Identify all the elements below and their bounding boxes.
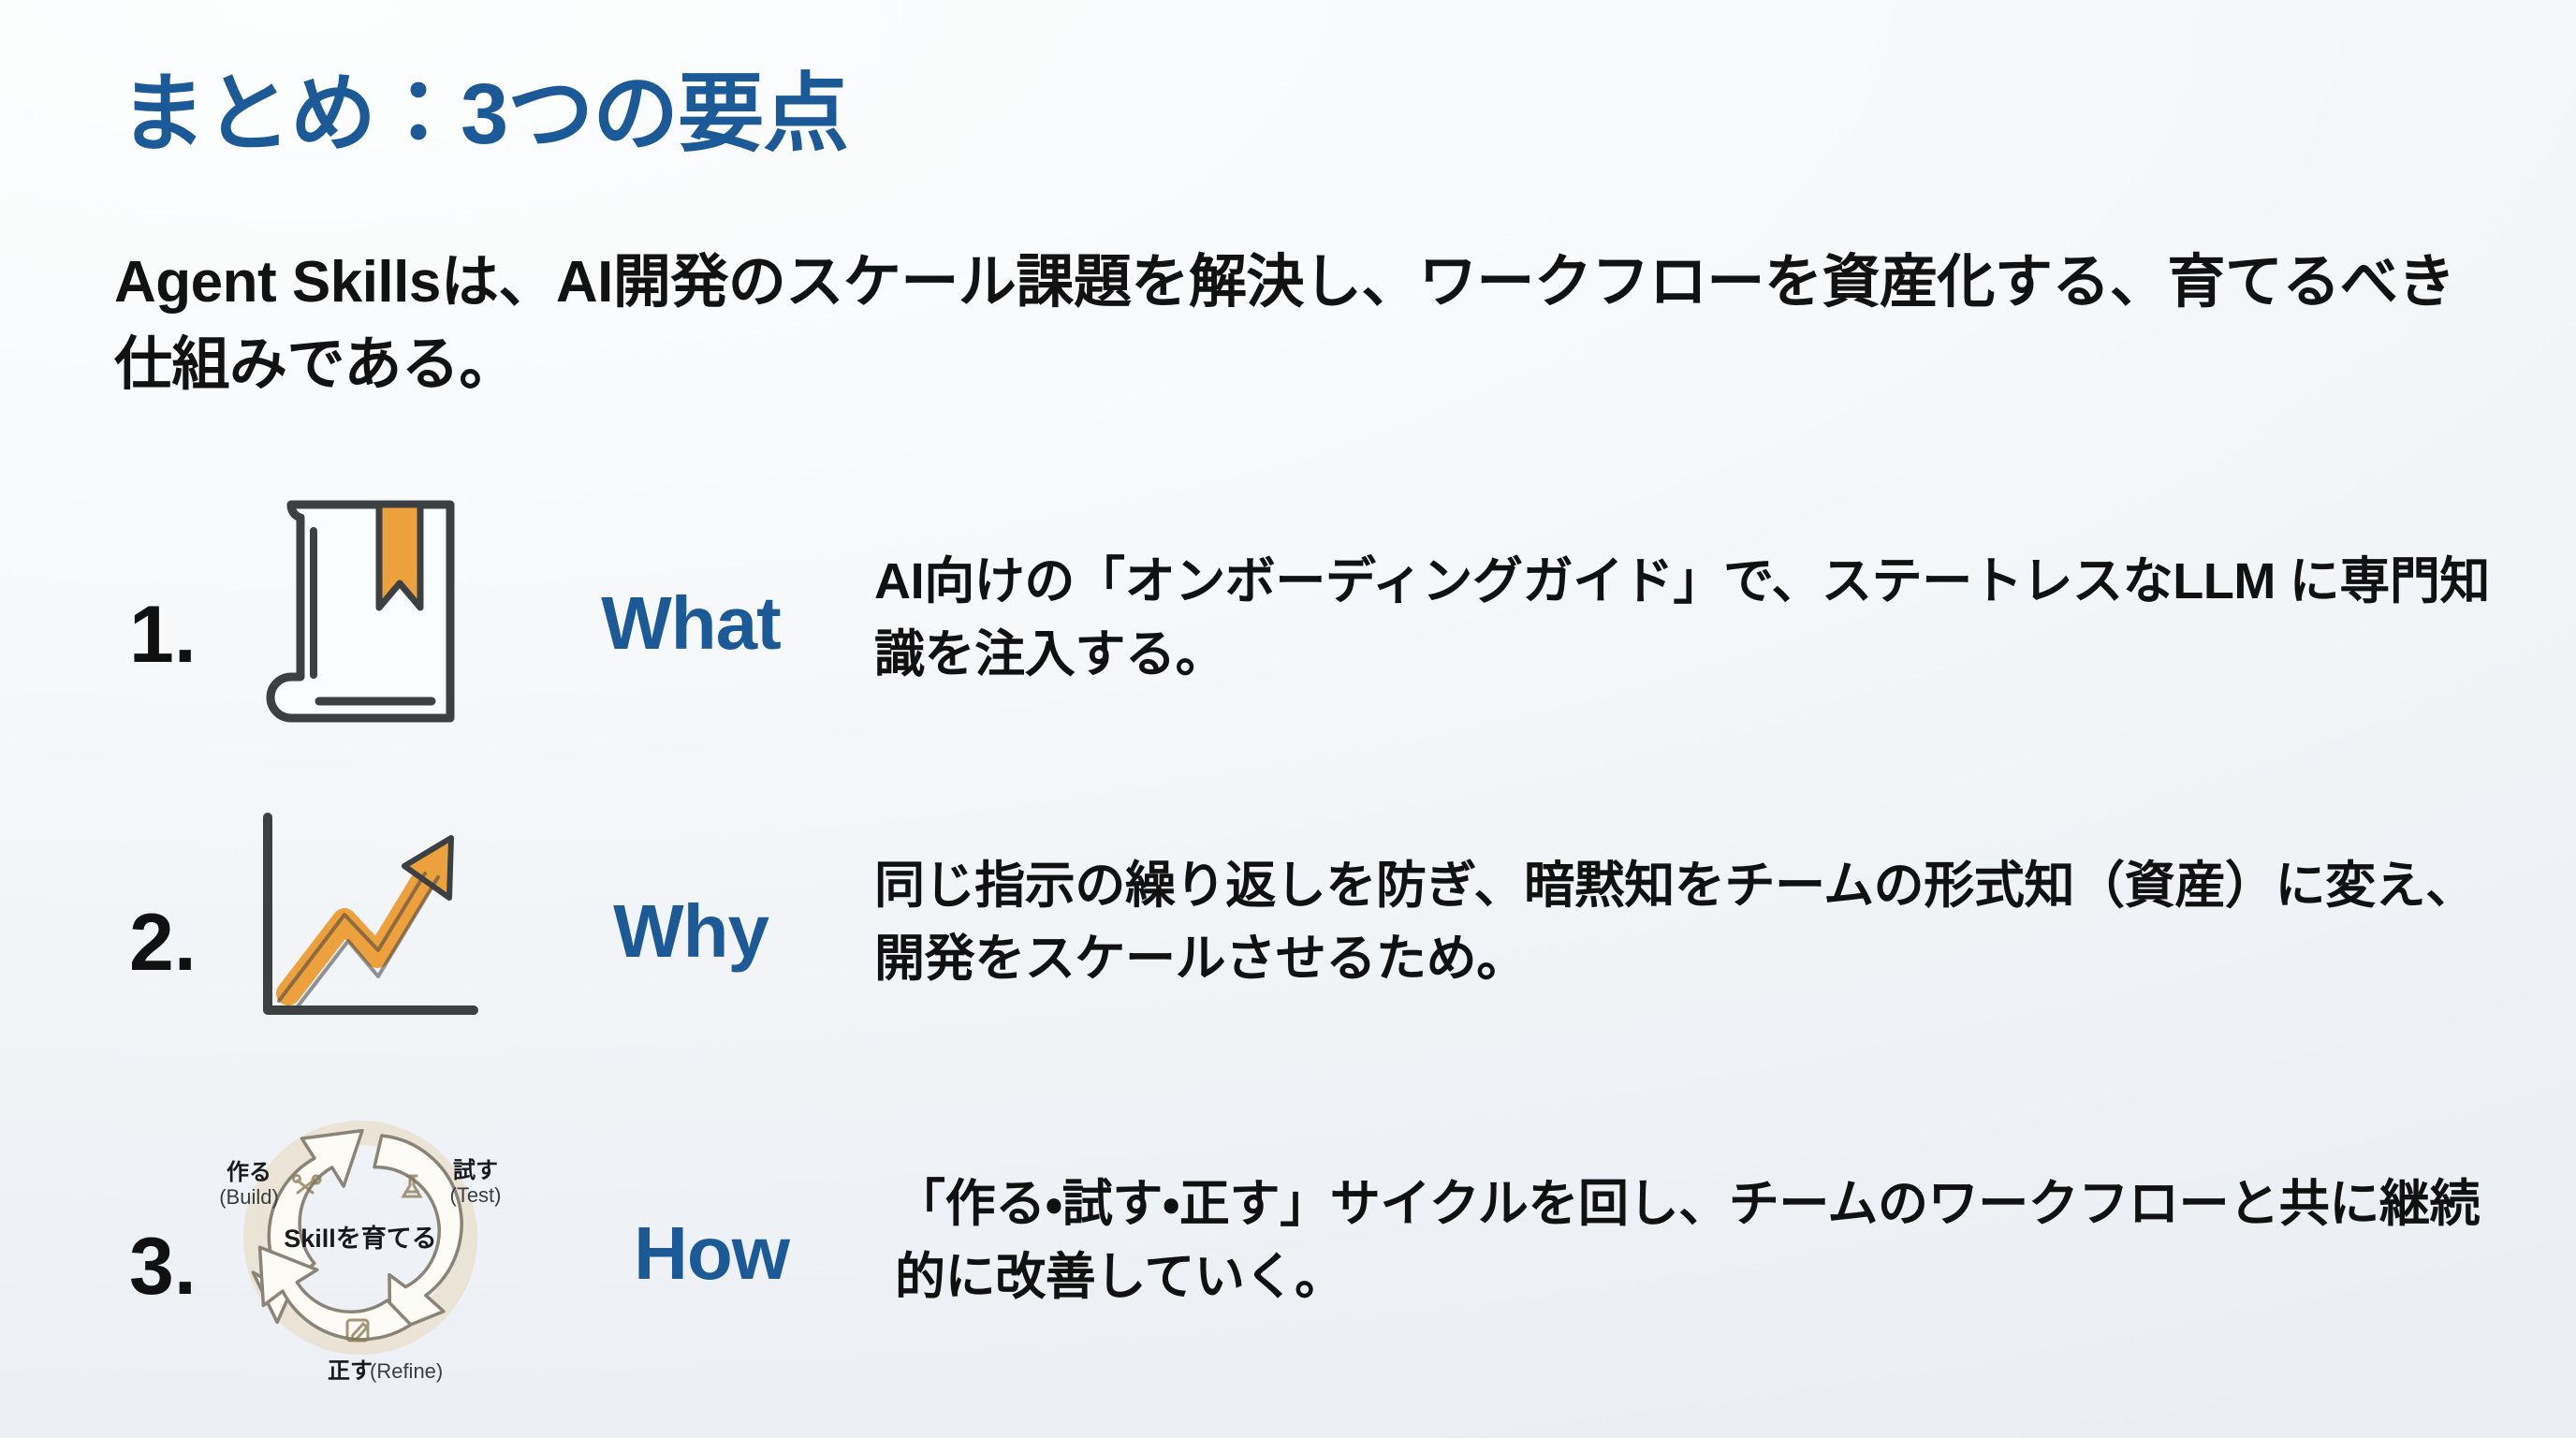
improvement-cycle-icon: Skillを育てる [178, 1086, 543, 1395]
cycle-stage-ja-refine: 正す [328, 1358, 373, 1384]
list-item: 1. What AI向けの「オンボーディングガイド」で、ステートレスなLLM に… [0, 468, 2576, 768]
cycle-stage-ja-test: 試す [453, 1157, 498, 1183]
lead-paragraph: Agent Skillsは、AI開発のスケール課題を解決し、ワークフローを資産化… [114, 242, 2473, 406]
point-number: 2. [0, 902, 129, 983]
cycle-stage-en-refine: (Refine) [370, 1359, 443, 1383]
cycle-stage-en-build: (Build) [219, 1185, 279, 1209]
page-title: まとめ：3つの要点 [120, 69, 848, 160]
point-key-why: Why [532, 888, 850, 975]
point-body: 同じ指示の繰り返しを防ぎ、暗黙知をチームの形式知（資産）に変え、開発をスケールさ… [850, 849, 2576, 996]
point-number: 3. [0, 1226, 129, 1307]
cycle-center-label: Skillを育てる [284, 1225, 437, 1253]
slide-canvas: まとめ：3つの要点 Agent Skillsは、AI開発のスケール課題を解決し、… [0, 0, 2576, 1438]
cycle-stage-ja-build: 作る [227, 1160, 271, 1185]
points-list: 1. What AI向けの「オンボーディングガイド」で、ステートレスなLLM に… [0, 468, 2576, 1404]
list-item: 2. Why 同じ指示の繰り返しを防ぎ、暗黙知をチームの形式知（ [0, 768, 2576, 1077]
point-body: 「作る・試す・正す」サイクルを回し、チームのワークフローと共に継続的に改善してい… [871, 1167, 2576, 1314]
point-number: 1. [0, 594, 129, 675]
growth-chart-icon [213, 782, 522, 1063]
book-icon [213, 477, 522, 758]
point-body: AI向けの「オンボーディングガイド」で、ステートレスなLLM に専門知識を注入す… [850, 545, 2576, 692]
point-key-what: What [532, 580, 850, 667]
point-key-how: How [552, 1211, 871, 1297]
cycle-stage-en-test: (Test) [450, 1183, 502, 1207]
list-item: 3. [0, 1077, 2576, 1404]
